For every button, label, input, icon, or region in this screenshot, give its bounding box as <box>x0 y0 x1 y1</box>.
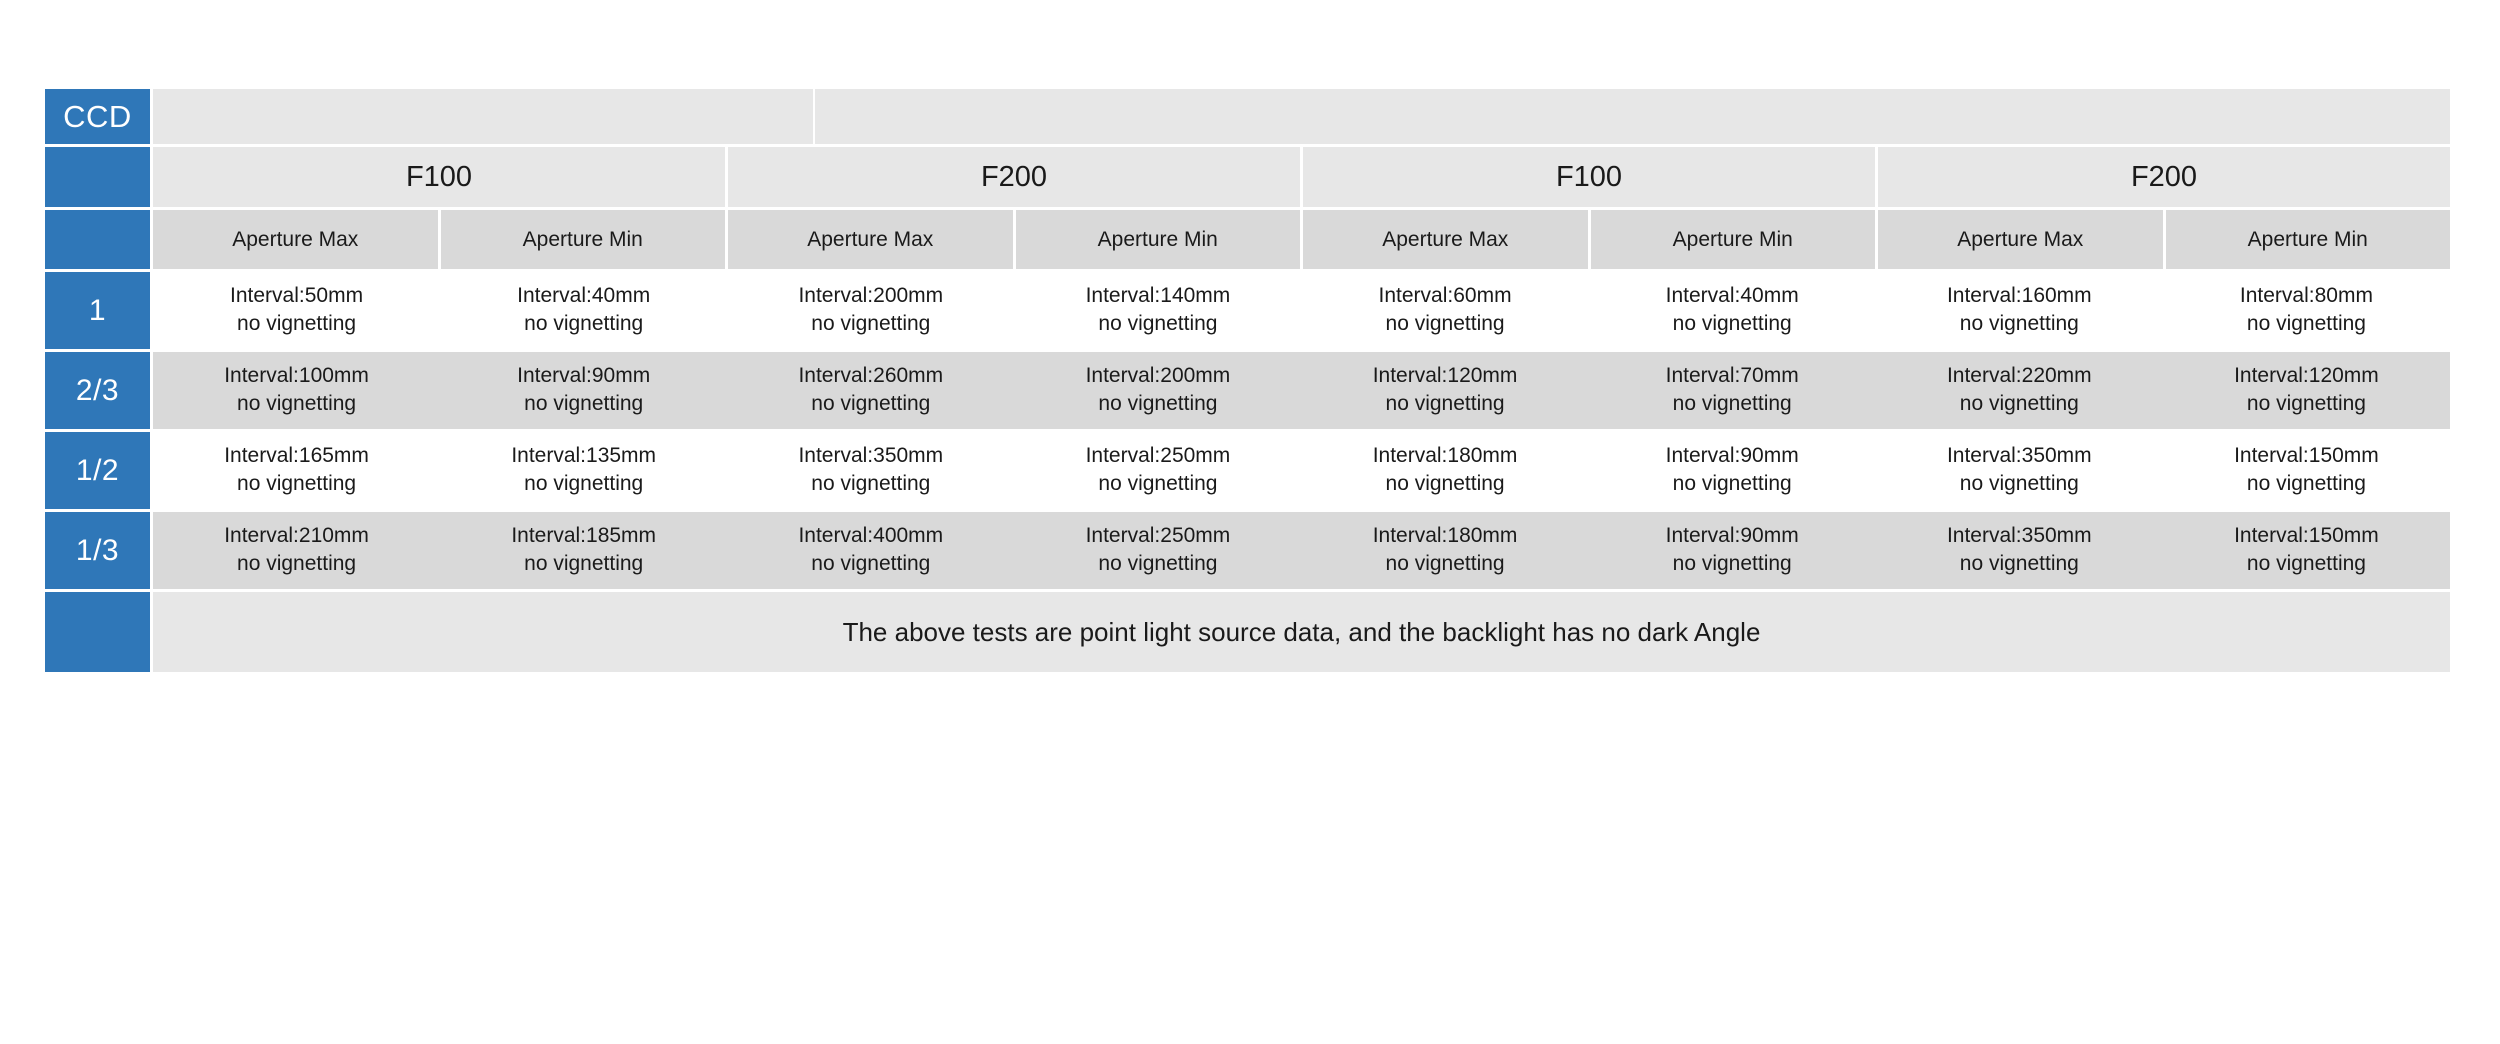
cell-interval: Interval:220mm <box>1947 363 2092 390</box>
cell-note: no vignetting <box>237 551 356 578</box>
table-row: 2/3 Interval:100mmno vignetting Interval… <box>45 352 2450 429</box>
footer-label-blank <box>45 592 150 672</box>
table-cell: Interval:260mmno vignetting <box>727 352 1014 429</box>
table-cell: Interval:120mmno vignetting <box>1302 352 1589 429</box>
cell-note: no vignetting <box>1386 311 1505 338</box>
cell-note: no vignetting <box>811 551 930 578</box>
cell-note: no vignetting <box>1960 471 2079 498</box>
aperture-header-cell: Aperture Max <box>153 210 441 269</box>
aperture-header-cells: Aperture Max Aperture Min Aperture Max A… <box>153 210 2450 269</box>
cell-interval: Interval:150mm <box>2234 523 2379 550</box>
ccd-header-label: CCD <box>45 89 150 144</box>
table-cell: Interval:350mmno vignetting <box>1876 432 2163 509</box>
lens-group-cell: F200 <box>728 147 1303 207</box>
aperture-header-cell: Aperture Max <box>1303 210 1591 269</box>
aperture-header-cell: Aperture Max <box>1878 210 2166 269</box>
table-row-cells: Interval:165mmno vignetting Interval:135… <box>153 432 2450 509</box>
table-cell: Interval:150mmno vignetting <box>2163 432 2450 509</box>
table-row-cells: Interval:210mmno vignetting Interval:185… <box>153 512 2450 589</box>
table-cell: Interval:180mmno vignetting <box>1302 432 1589 509</box>
cell-note: no vignetting <box>2247 391 2366 418</box>
aperture-header-cell: Aperture Min <box>441 210 729 269</box>
cell-note: no vignetting <box>811 391 930 418</box>
cell-interval: Interval:200mm <box>1086 363 1231 390</box>
cell-note: no vignetting <box>237 391 356 418</box>
table-cell: Interval:150mmno vignetting <box>2163 512 2450 589</box>
cell-note: no vignetting <box>524 311 643 338</box>
cell-interval: Interval:40mm <box>1666 283 1799 310</box>
cell-note: no vignetting <box>1673 551 1792 578</box>
table-cell: Interval:200mmno vignetting <box>727 272 1014 349</box>
ccd-header-spacer-left <box>153 89 813 144</box>
cell-interval: Interval:185mm <box>511 523 656 550</box>
cell-note: no vignetting <box>1098 311 1217 338</box>
table-cell: Interval:60mmno vignetting <box>1302 272 1589 349</box>
table-row-aperture-header: Aperture Max Aperture Min Aperture Max A… <box>45 210 2450 269</box>
cell-note: no vignetting <box>811 311 930 338</box>
cell-note: no vignetting <box>2247 311 2366 338</box>
cell-note: no vignetting <box>2247 551 2366 578</box>
table-cell: Interval:200mmno vignetting <box>1014 352 1301 429</box>
ccd-vignetting-table: CCD F100 F200 F100 F200 Aperture Max Ape… <box>45 89 2450 672</box>
cell-interval: Interval:50mm <box>230 283 363 310</box>
cell-interval: Interval:80mm <box>2240 283 2373 310</box>
table-cell: Interval:220mmno vignetting <box>1876 352 2163 429</box>
table-row-ccd-header: CCD <box>45 89 2450 144</box>
cell-note: no vignetting <box>237 311 356 338</box>
aperture-header-cell: Aperture Max <box>728 210 1016 269</box>
cell-interval: Interval:250mm <box>1086 443 1231 470</box>
table-cell: Interval:400mmno vignetting <box>727 512 1014 589</box>
lens-group-label-blank <box>45 147 150 207</box>
table-cell: Interval:350mmno vignetting <box>727 432 1014 509</box>
table-row: 1 Interval:50mmno vignetting Interval:40… <box>45 272 2450 349</box>
cell-interval: Interval:350mm <box>798 443 943 470</box>
cell-note: no vignetting <box>1960 551 2079 578</box>
table-row-cells: Interval:100mmno vignetting Interval:90m… <box>153 352 2450 429</box>
table-cell: Interval:90mmno vignetting <box>1589 512 1876 589</box>
cell-interval: Interval:100mm <box>224 363 369 390</box>
table-cell: Interval:250mmno vignetting <box>1014 512 1301 589</box>
cell-note: no vignetting <box>1960 391 2079 418</box>
table-cell: Interval:100mmno vignetting <box>153 352 440 429</box>
cell-interval: Interval:180mm <box>1373 443 1518 470</box>
table-cell: Interval:180mmno vignetting <box>1302 512 1589 589</box>
aperture-header-cell: Aperture Min <box>1016 210 1304 269</box>
row-label-sensor-size: 1 <box>45 272 150 349</box>
cell-interval: Interval:400mm <box>798 523 943 550</box>
cell-interval: Interval:120mm <box>1373 363 1518 390</box>
table-cell: Interval:135mmno vignetting <box>440 432 727 509</box>
cell-interval: Interval:70mm <box>1666 363 1799 390</box>
cell-note: no vignetting <box>1098 551 1217 578</box>
lens-group-cell: F200 <box>1878 147 2450 207</box>
lens-group-cell: F100 <box>153 147 728 207</box>
ccd-header-spacer-right <box>815 89 2450 144</box>
cell-note: no vignetting <box>1386 391 1505 418</box>
row-label-sensor-size: 2/3 <box>45 352 150 429</box>
table-page: CCD F100 F200 F100 F200 Aperture Max Ape… <box>0 0 2500 1044</box>
ccd-header-cells <box>153 89 2450 144</box>
table-cell: Interval:250mmno vignetting <box>1014 432 1301 509</box>
table-cell: Interval:165mmno vignetting <box>153 432 440 509</box>
cell-note: no vignetting <box>1673 471 1792 498</box>
cell-note: no vignetting <box>237 471 356 498</box>
cell-interval: Interval:90mm <box>1666 443 1799 470</box>
cell-note: no vignetting <box>1673 311 1792 338</box>
cell-note: no vignetting <box>1386 551 1505 578</box>
row-label-sensor-size: 1/2 <box>45 432 150 509</box>
cell-interval: Interval:200mm <box>798 283 943 310</box>
cell-note: no vignetting <box>1098 471 1217 498</box>
cell-interval: Interval:60mm <box>1379 283 1512 310</box>
cell-interval: Interval:260mm <box>798 363 943 390</box>
cell-interval: Interval:120mm <box>2234 363 2379 390</box>
table-cell: Interval:120mmno vignetting <box>2163 352 2450 429</box>
aperture-header-label-blank <box>45 210 150 269</box>
cell-interval: Interval:180mm <box>1373 523 1518 550</box>
table-row-lens-group: F100 F200 F100 F200 <box>45 147 2450 207</box>
aperture-header-cell: Aperture Min <box>2166 210 2451 269</box>
table-cell: Interval:50mmno vignetting <box>153 272 440 349</box>
cell-note: no vignetting <box>524 471 643 498</box>
cell-interval: Interval:150mm <box>2234 443 2379 470</box>
table-cell: Interval:185mmno vignetting <box>440 512 727 589</box>
cell-note: no vignetting <box>1386 471 1505 498</box>
table-row: 1/3 Interval:210mmno vignetting Interval… <box>45 512 2450 589</box>
table-cell: Interval:210mmno vignetting <box>153 512 440 589</box>
cell-note: no vignetting <box>2247 471 2366 498</box>
cell-interval: Interval:90mm <box>517 363 650 390</box>
table-cell: Interval:70mmno vignetting <box>1589 352 1876 429</box>
cell-interval: Interval:135mm <box>511 443 656 470</box>
table-row-cells: Interval:50mmno vignetting Interval:40mm… <box>153 272 2450 349</box>
table-cell: Interval:90mmno vignetting <box>440 352 727 429</box>
cell-interval: Interval:40mm <box>517 283 650 310</box>
table-cell: Interval:40mmno vignetting <box>440 272 727 349</box>
cell-note: no vignetting <box>1673 391 1792 418</box>
cell-interval: Interval:210mm <box>224 523 369 550</box>
aperture-header-cell: Aperture Min <box>1591 210 1879 269</box>
cell-interval: Interval:350mm <box>1947 523 2092 550</box>
table-cell: Interval:90mmno vignetting <box>1589 432 1876 509</box>
lens-group-cells: F100 F200 F100 F200 <box>153 147 2450 207</box>
cell-interval: Interval:250mm <box>1086 523 1231 550</box>
cell-note: no vignetting <box>811 471 930 498</box>
table-cell: Interval:160mmno vignetting <box>1876 272 2163 349</box>
row-label-sensor-size: 1/3 <box>45 512 150 589</box>
table-cell: Interval:40mmno vignetting <box>1589 272 1876 349</box>
footer-note-text: The above tests are point light source d… <box>153 592 2450 672</box>
cell-interval: Interval:165mm <box>224 443 369 470</box>
cell-interval: Interval:140mm <box>1086 283 1231 310</box>
footer-note-cells: The above tests are point light source d… <box>153 592 2450 672</box>
table-row-footer-note: The above tests are point light source d… <box>45 592 2450 672</box>
cell-interval: Interval:160mm <box>1947 283 2092 310</box>
table-cell: Interval:80mmno vignetting <box>2163 272 2450 349</box>
cell-note: no vignetting <box>1960 311 2079 338</box>
table-row: 1/2 Interval:165mmno vignetting Interval… <box>45 432 2450 509</box>
cell-note: no vignetting <box>1098 391 1217 418</box>
table-cell: Interval:350mmno vignetting <box>1876 512 2163 589</box>
cell-interval: Interval:90mm <box>1666 523 1799 550</box>
cell-note: no vignetting <box>524 391 643 418</box>
table-cell: Interval:140mmno vignetting <box>1014 272 1301 349</box>
lens-group-cell: F100 <box>1303 147 1878 207</box>
cell-note: no vignetting <box>524 551 643 578</box>
cell-interval: Interval:350mm <box>1947 443 2092 470</box>
